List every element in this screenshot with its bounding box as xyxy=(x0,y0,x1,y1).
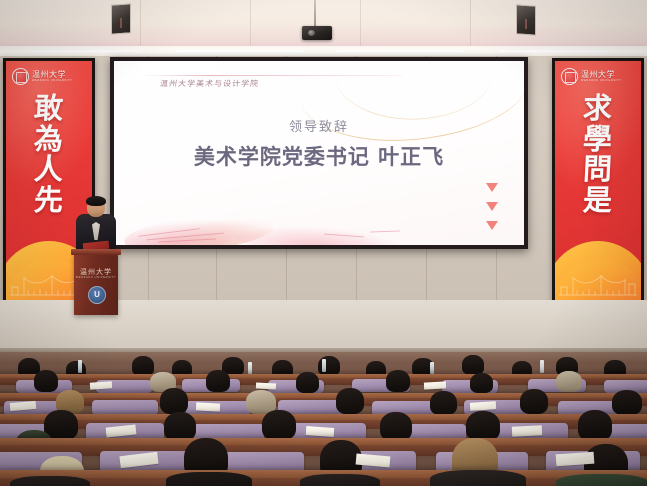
speaker-head xyxy=(87,198,105,217)
water-bottle xyxy=(78,360,82,373)
podium: 温州大学 WENZHOU UNIVERSITY xyxy=(74,253,118,315)
banner-left-logo-cn: 温州大学 xyxy=(32,71,73,79)
audience-person xyxy=(556,474,647,486)
open-book xyxy=(256,382,276,389)
audience-person xyxy=(430,391,457,415)
podium-name-en: WENZHOU UNIVERSITY xyxy=(74,276,118,279)
audience-person xyxy=(466,411,500,441)
water-bottle xyxy=(248,362,252,374)
auditorium-photo: 温州大学 WENZHOU UNIVERSITY 敢 為 人 先 xyxy=(0,0,647,486)
water-bottle xyxy=(430,362,434,374)
water-bottle xyxy=(540,360,544,373)
banner-left-logo: 温州大学 WENZHOU UNIVERSITY xyxy=(12,68,73,85)
open-book xyxy=(196,402,220,411)
slide-header-calligraphy: 温州大学美术与设计学院 xyxy=(159,78,259,88)
audience-person xyxy=(160,388,188,414)
projector-mount-rod xyxy=(314,0,316,28)
audience-person xyxy=(386,370,410,392)
banner-right-char-1: 學 xyxy=(583,126,613,154)
audience-person xyxy=(300,474,380,486)
banner-left-char-0: 敢 xyxy=(34,95,64,123)
audience-person xyxy=(430,470,526,486)
triangle-down-icon xyxy=(486,221,498,230)
university-seal-icon xyxy=(561,68,578,85)
banner-left-char-1: 為 xyxy=(34,126,64,154)
open-book xyxy=(512,425,542,437)
banner-left-slogan: 敢 為 人 先 xyxy=(6,95,92,214)
banner-right-logo: 温州大学 WENZHOU UNIVERSITY xyxy=(561,68,622,85)
banner-right-char-3: 是 xyxy=(583,187,613,215)
audience-person xyxy=(612,390,642,415)
podium-emblem-icon xyxy=(88,286,106,304)
banner-right: 温州大学 WENZHOU UNIVERSITY 求 學 問 是 xyxy=(552,58,644,304)
slide-title: 美术学院党委书记 叶正飞 xyxy=(114,141,524,171)
triangle-down-icon xyxy=(486,202,498,211)
audience-person xyxy=(578,410,612,441)
podium-top-surface xyxy=(71,249,121,255)
banner-right-bridge-illustration-icon xyxy=(555,265,641,299)
banner-left-logo-en: WENZHOU UNIVERSITY xyxy=(32,80,73,83)
audience-person xyxy=(206,370,230,392)
banner-right-logo-cn: 温州大学 xyxy=(581,71,622,79)
speaker-hair xyxy=(86,196,106,206)
slide-subtitle: 领导致辞 xyxy=(114,116,524,135)
projector-lens-icon xyxy=(308,30,315,36)
audience-seating xyxy=(0,352,647,486)
banner-left-char-3: 先 xyxy=(34,187,64,215)
slide-marker-group xyxy=(486,183,498,230)
banner-right-char-2: 問 xyxy=(583,156,613,184)
projection-screen: 温州大学美术与设计学院 领导致辞 美术学院党委书记 叶正飞 xyxy=(110,57,528,249)
presentation-slide: 温州大学美术与设计学院 领导致辞 美术学院党委书记 叶正飞 xyxy=(114,61,524,245)
audience-person xyxy=(380,412,412,441)
banner-right-slogan: 求 學 問 是 xyxy=(555,95,641,214)
speaker-shirt xyxy=(92,222,100,240)
banner-right-char-0: 求 xyxy=(583,95,613,123)
seat-back xyxy=(92,400,158,415)
audience-person xyxy=(296,372,319,393)
ceiling-speaker-left-icon xyxy=(111,3,131,34)
audience-person xyxy=(166,472,252,486)
audience-person xyxy=(34,370,58,392)
triangle-down-icon xyxy=(486,183,498,192)
audience-person xyxy=(470,373,493,393)
ceiling-projector-icon xyxy=(302,26,332,40)
open-book xyxy=(306,426,335,437)
audience-person xyxy=(520,389,548,414)
audience-person xyxy=(132,356,154,376)
banner-right-logo-en: WENZHOU UNIVERSITY xyxy=(581,80,622,83)
audience-person xyxy=(262,410,296,440)
ceiling xyxy=(0,0,647,52)
audience-person xyxy=(10,476,90,486)
university-seal-icon xyxy=(12,68,29,85)
water-bottle xyxy=(322,359,326,372)
audience-person xyxy=(462,355,484,375)
ceiling-speaker-right-icon xyxy=(516,4,536,35)
banner-left-char-2: 人 xyxy=(34,156,64,184)
audience-person xyxy=(336,388,364,414)
audience-person xyxy=(164,412,196,441)
open-book xyxy=(424,381,446,389)
audience-person xyxy=(556,371,582,392)
